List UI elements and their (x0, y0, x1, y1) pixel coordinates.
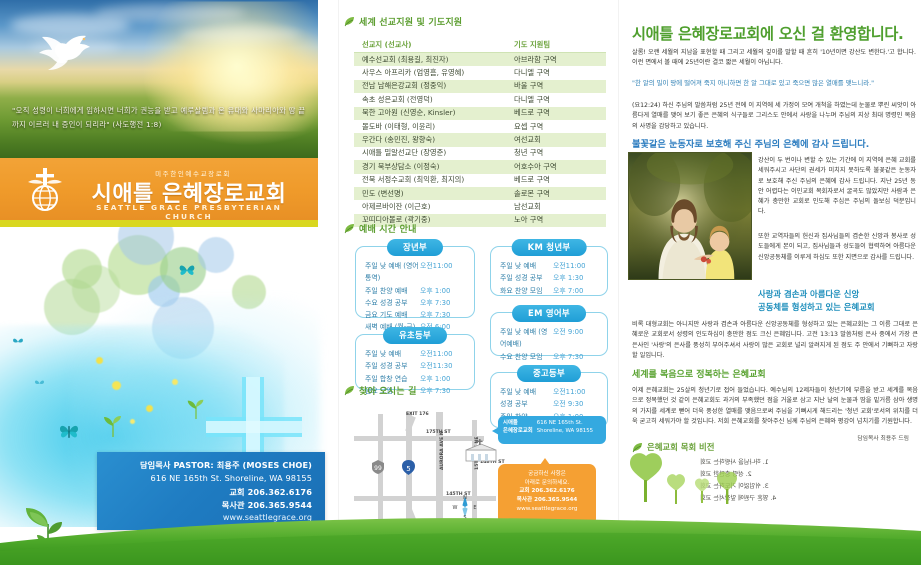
missions-heading-label: 세계 선교지원 및 기도지원 (359, 15, 462, 28)
cloud-shape (180, 26, 300, 42)
mission-field: 몰도바 (이태형, 이윤리) (354, 122, 514, 132)
leaf-icon (632, 442, 643, 453)
service-time: 오후 1:00 (420, 285, 466, 297)
mission-field: 경기 북부상담소 (이정숙) (354, 162, 514, 172)
services-heading: 예배 시간 안내 (344, 222, 417, 235)
cover-photo: "오직 성령이 너희에게 임하시면 너희가 권능을 받고 예루살렘과 온 유대와… (0, 0, 318, 158)
table-row: 북한 고아원 (신영순, Kinsler)베드로 구역 (354, 107, 606, 120)
table-row: 아제르바이잔 (이근호)남선교회 (354, 200, 606, 213)
mission-team: 여선교회 (514, 135, 606, 145)
mission-team: 솔로몬 구역 (514, 189, 606, 199)
service-time: 오후 7:30 (420, 309, 466, 321)
table-row: 예수선교회 (최용길, 최진자)아브라함 구역 (354, 53, 606, 66)
service-box-em-english: EM 영어부 주일 낮 예배 (영어예배)오전 9:00 수요 찬양 모임오후 … (490, 312, 608, 356)
service-label: 수요 성경 공부 (365, 297, 420, 309)
mission-field: 사우스 아프리카 (엄영흠, 유영혜) (354, 68, 514, 78)
service-group-title: EM 영어부 (512, 305, 586, 322)
service-group-title: 장년부 (387, 239, 443, 256)
welcome-quote: "한 알의 밀이 땅에 떨어져 죽지 아니하면 한 알 그대로 있고 죽으면 많… (632, 78, 916, 89)
cloud-shape (95, 4, 245, 22)
table-row: 사우스 아프리카 (엄영흠, 유영혜)다니엘 구역 (354, 66, 606, 79)
church-name-en: SEATTLE GRACE PRESBYTERIAN CHURCH (74, 203, 304, 221)
jesus-illustration (628, 152, 752, 280)
church-phone: 교회 206.362.6176 (97, 486, 312, 499)
mission-field: 예수선교회 (최용길, 최진자) (354, 55, 514, 65)
highway-99-shield-icon: 99 (372, 460, 384, 474)
service-label: 주일 낮 예배 (500, 386, 553, 398)
service-label: 주일 낮 예배 (500, 260, 553, 272)
service-label: 주일 낮 예배 (영어예배) (500, 326, 553, 351)
leaf-icon (344, 385, 355, 396)
yellow-divider (0, 220, 318, 227)
mission-team: 다니엘 구역 (514, 95, 606, 105)
globe-cross-logo-icon (22, 166, 68, 212)
service-label: 주일 성경 공부 (365, 360, 420, 372)
callout-pastor-phone: 목사관 206.365.9544 (504, 496, 590, 505)
cover-scripture: "오직 성령이 너희에게 임하시면 너희가 권능을 받고 예루살렘과 온 유대와… (12, 104, 308, 131)
service-time: 오후 7:30 (420, 297, 466, 309)
service-box-km-youth: KM 청년부 주일 낮 예배오전11:00 주일 성경 공부오후 1:30 화요… (490, 246, 608, 296)
mission-field: 속초 성은교회 (전영덕) (354, 95, 514, 105)
service-time: 오후 7:30 (553, 351, 599, 363)
mission-team: 청년 구역 (514, 148, 606, 158)
service-label: 수요 찬양 모임 (500, 351, 553, 363)
service-time: 오전 9:00 (553, 326, 599, 351)
mission-field: 전북 서정수교회 (최익환, 최지의) (354, 175, 514, 185)
service-time: 오전11:00 (553, 386, 599, 398)
mission-team: 노아 구역 (514, 215, 606, 225)
welcome-para-1: 살롬! 오랜 세월의 지남을 표현할 때 그리고 세월의 깊이를 말할 때 흔히… (632, 48, 916, 69)
mission-field: 북한 고아원 (신영순, Kinsler) (354, 108, 514, 118)
table-header-row: 선교지 (선교사) 기도 지원팀 (354, 38, 606, 53)
mission-team: 남선교회 (514, 202, 606, 212)
callout-line1: 궁금하신 사항은 (504, 470, 590, 479)
panel-fold-1 (338, 0, 339, 565)
service-time: 오전11:00 (553, 260, 599, 272)
service-time: 오전11:00 (420, 348, 466, 360)
green-hill-graphic (0, 505, 921, 565)
service-time: 오전11:00 (420, 260, 466, 285)
mission-field: 전남 남해은강교회 (정중익) (354, 81, 514, 91)
table-row: 몰도바 (이태형, 이윤리)요셉 구역 (354, 120, 606, 133)
col-field: 선교지 (선교사) (354, 40, 514, 50)
table-row: 민도 (변선명)솔로몬 구역 (354, 187, 606, 200)
service-time: 오전11:30 (420, 360, 466, 372)
pastor-line: 담임목사 PASTOR: 최용주 (MOSES CHOE) (97, 459, 312, 472)
address-line: 616 NE 165th St. Shoreline, WA 98155 (97, 472, 312, 485)
mission-field: 우간다 (송민진, 왕향숙) (354, 135, 514, 145)
service-time: 오후 1:00 (420, 373, 466, 385)
service-box-adult: 장년부 주일 낮 예배 (영어통역)오전11:00 주일 찬양 예배오후 1:0… (355, 246, 475, 318)
sprout-icon (100, 413, 126, 437)
callout-line2: 아래로 문의하세요. (504, 479, 590, 488)
service-group-title: KM 청년부 (512, 239, 587, 256)
directions-heading: 찾아 오시는 길 (344, 384, 417, 397)
service-group-title: 유초등부 (383, 327, 447, 344)
mission-team: 아브라함 구역 (514, 55, 606, 65)
table-row: 경기 북부상담소 (이정숙)어호수아 구역 (354, 160, 606, 173)
map-label-exit176: EXIT 176 (406, 412, 429, 417)
service-time: 오후 1:30 (553, 272, 599, 284)
mission-field: 민도 (변선명) (354, 189, 514, 199)
logo-band: 미주한인예수교장로회 시애틀 은혜장로교회 SEATTLE GRACE PRES… (0, 158, 318, 220)
mission-team: 다니엘 구역 (514, 68, 606, 78)
welcome-caption-1: 사랑과 겸손과 아름다운 신앙 (758, 288, 918, 301)
dove-icon (36, 26, 98, 74)
welcome-para-5: 이제 은혜교회는 25살의 청년기로 접어 들었습니다. 예수님의 12제자들이… (632, 386, 918, 427)
map-label-aurora: AURORA AVE N (440, 431, 445, 470)
welcome-para-2: 강산이 두 번이나 변할 수 있는 기간에 이 지역에 은혜 교회를 세워주시고… (758, 156, 916, 218)
table-row: 전북 서정수교회 (최익환, 최지의)베드로 구역 (354, 174, 606, 187)
welcome-subhead-1: 불꽃같은 눈동자로 보호해 주신 주님의 은혜에 감사 드립니다. (632, 136, 916, 150)
service-label: 주일 낮 예배 (365, 348, 420, 360)
welcome-para-3: 또한 교역자들의 헌신과 집사님들의 겸손한 신앙과 봉사로 성도들에게 본이 … (758, 232, 916, 263)
callout-church-phone: 교회 206.362.6176 (504, 487, 590, 496)
butterfly-icon (178, 263, 196, 278)
map-label-175th: 175TH ST (426, 430, 451, 435)
service-label: 주일 성경 공부 (500, 272, 553, 284)
mission-field: 아제르바이잔 (이근호) (354, 202, 514, 212)
callout-church-name: 시애틀 은혜장로교회 (503, 420, 533, 435)
service-label: 화요 찬양 모임 (500, 285, 553, 297)
butterfly-icon (12, 337, 24, 347)
service-time: 오후 7:00 (553, 285, 599, 297)
missions-table: 선교지 (선교사) 기도 지원팀 예수선교회 (최용길, 최진자)아브라함 구역… (354, 38, 606, 227)
svg-text:99: 99 (374, 465, 382, 472)
church-building-icon (460, 438, 500, 464)
leaf-icon (344, 223, 355, 234)
mission-team: 베드로 구역 (514, 175, 606, 185)
mission-team: 베드로 구역 (514, 108, 606, 118)
col-team: 기도 지원팀 (514, 40, 606, 50)
svg-text:N: N (463, 495, 467, 501)
welcome-caption-2: 공동체를 형성하고 있는 은혜교회 (758, 301, 921, 314)
signature-line: 담임목사 최용주 드림 (857, 433, 909, 442)
table-row: 전남 남해은강교회 (정중익)바울 구역 (354, 80, 606, 93)
welcome-para-4: 비록 대형교회는 아니지만 사랑과 겸손과 아름다운 신앙공동체를 형성하고 있… (632, 320, 918, 361)
butterfly-icon (34, 379, 45, 388)
service-group-title: 중고등부 (517, 365, 581, 382)
service-label: 주일 합창 연습 (365, 373, 420, 385)
service-time: 오후 7:30 (420, 385, 466, 397)
service-box-children: 유초등부 주일 낮 예배오전11:00 주일 성경 공부오전11:30 주일 합… (355, 334, 475, 390)
welcome-subhead-2: 세계를 복음으로 정복하는 은혜교회 (632, 367, 918, 380)
mission-team: 바울 구역 (514, 81, 606, 91)
mission-field: 시애틀 밀알선교단 (장영준) (354, 148, 514, 158)
leaf-icon (344, 16, 355, 27)
panel-fold-2 (618, 0, 619, 565)
missions-heading: 세계 선교지원 및 기도지원 (344, 15, 462, 28)
sprout-icon (184, 397, 208, 419)
butterfly-icon (58, 423, 80, 441)
directions-heading-label: 찾아 오시는 길 (359, 384, 417, 397)
service-label: 금요 기도 예배 (365, 309, 420, 321)
welcome-title: 시애틀 은혜장로교회에 오신 걸 환영합니다. (632, 22, 918, 44)
table-row: 시애틀 밀알선교단 (장영준)청년 구역 (354, 147, 606, 160)
callout-church-address: 616 NE 165th St. Shoreline, WA 98155 (537, 420, 593, 435)
svg-text:5: 5 (406, 465, 410, 473)
interstate-5-shield-icon: 5 (402, 460, 415, 475)
service-label: 주일 낮 예배 (영어통역) (365, 260, 420, 285)
mission-team: 어호수아 구역 (514, 162, 606, 172)
church-map-callout: 시애틀 은혜장로교회 616 NE 165th St. Shoreline, W… (498, 416, 606, 444)
services-heading-label: 예배 시간 안내 (359, 222, 417, 235)
welcome-quote-ref: (요12:24) 하신 주님의 말씀처럼 25년 전에 이 지역에 세 가정이 … (632, 101, 916, 132)
service-label: 주일 찬양 예배 (365, 285, 420, 297)
table-row: 속초 성은교회 (전영덕)다니엘 구역 (354, 93, 606, 106)
mission-team: 요셉 구역 (514, 122, 606, 132)
table-row: 우간다 (송민진, 왕향숙)여선교회 (354, 133, 606, 146)
cover-panel: "오직 성령이 너희에게 임하시면 너희가 권능을 받고 예루살렘과 온 유대와… (0, 0, 338, 565)
